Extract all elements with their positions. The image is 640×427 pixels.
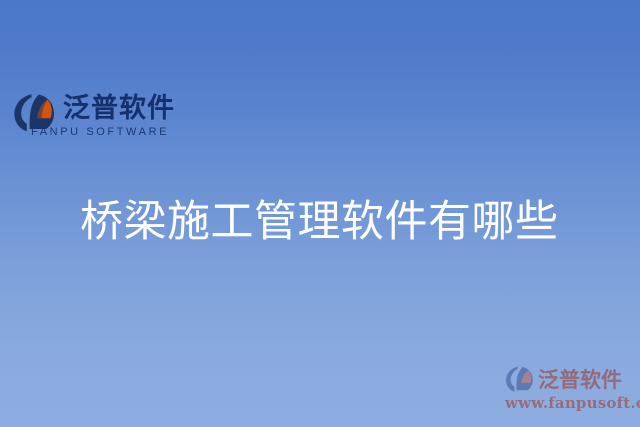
watermark-logo-row: 泛普软件 (505, 366, 637, 393)
brand-text-block: 泛普软件 FANPU SOFTWARE (63, 93, 175, 139)
brand-name-en: FANPU SOFTWARE (31, 125, 175, 139)
poster-canvas: 泛普软件 FANPU SOFTWARE 桥梁施工管理软件有哪些 泛普软件 www… (0, 0, 640, 427)
brand-name-cn: 泛普软件 (63, 94, 175, 124)
watermark-url: www.fanpusoft.com (505, 394, 637, 412)
fanpu-logo-watermark-icon (505, 366, 535, 393)
page-title: 桥梁施工管理软件有哪些 (80, 196, 559, 248)
watermark: 泛普软件 www.fanpusoft.com (505, 366, 637, 412)
watermark-name-cn: 泛普软件 (538, 368, 622, 392)
brand-lockup: 泛普软件 FANPU SOFTWARE (14, 93, 175, 139)
